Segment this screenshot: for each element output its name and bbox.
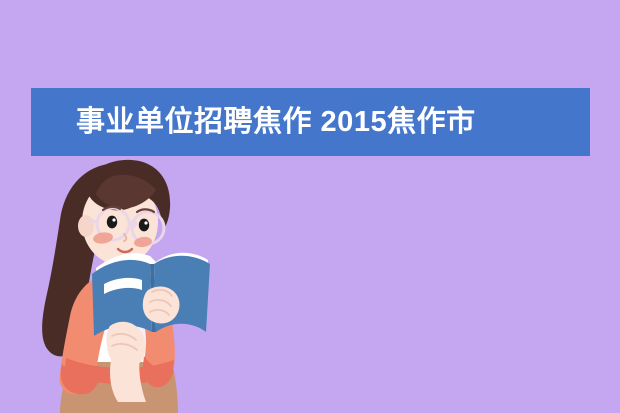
girl-reading-book-illustration <box>0 150 300 413</box>
article-header-image: 事业单位招聘焦作 2015焦作市 <box>0 0 620 413</box>
title-banner: 事业单位招聘焦作 2015焦作市 <box>31 88 590 156</box>
glasses-temple <box>88 220 97 222</box>
left-eye-highlight <box>112 218 115 221</box>
right-hand-shape <box>143 287 180 324</box>
right-eye <box>139 219 149 232</box>
ear-shape <box>78 215 94 237</box>
page-title: 事业单位招聘焦作 2015焦作市 <box>31 108 476 137</box>
right-eye-highlight <box>144 221 147 224</box>
left-eye <box>107 216 117 229</box>
